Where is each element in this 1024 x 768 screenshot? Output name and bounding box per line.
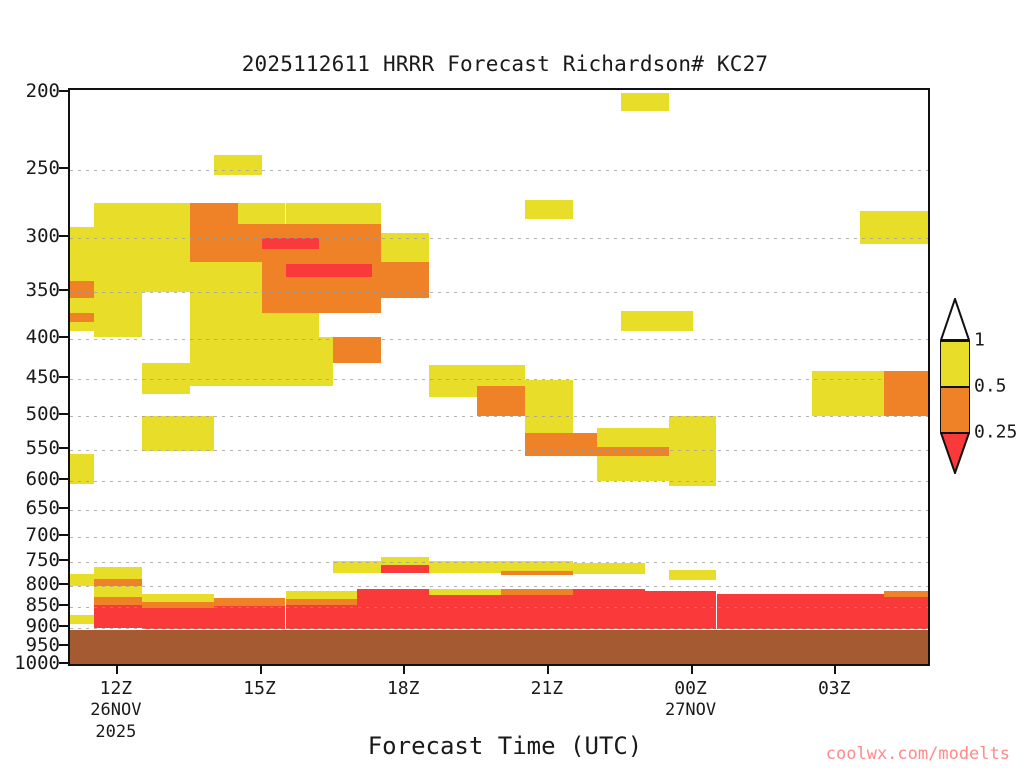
heatmap-cell <box>597 428 669 446</box>
colorbar-bottom-arrow <box>940 432 970 474</box>
heatmap-cell <box>94 597 142 605</box>
heatmap-cell <box>860 211 930 245</box>
heatmap-cell <box>525 380 573 416</box>
heatmap-cells <box>70 90 928 664</box>
heatmap-cell <box>621 311 693 332</box>
x-tick-mark <box>834 666 836 674</box>
heatmap-cell <box>286 264 372 277</box>
y-tick-mark <box>59 289 68 291</box>
y-tick-label: 500 <box>26 403 60 425</box>
heatmap-cell <box>142 594 214 602</box>
heatmap-cell <box>573 563 645 574</box>
y-tick-mark <box>59 413 68 415</box>
colorbar-separator <box>940 340 970 342</box>
chart-title: 2025112611 HRRR Forecast Richardson# KC2… <box>0 52 1010 76</box>
x-tick-mark <box>691 666 693 674</box>
y-tick-mark <box>59 644 68 646</box>
y-tick-label: 250 <box>26 157 60 179</box>
y-tick-mark <box>59 534 68 536</box>
x-tick-mark <box>116 666 118 674</box>
heatmap-cell <box>573 589 645 629</box>
heatmap-cell <box>70 322 94 331</box>
x-tick-label: 15Z <box>243 678 276 699</box>
heatmap-cell <box>70 298 94 313</box>
heatmap-cell <box>262 337 334 363</box>
heatmap-cell <box>669 570 717 581</box>
heatmap-cell <box>501 589 573 596</box>
x-tick-label: 21Z <box>531 678 564 699</box>
heatmap-cell <box>669 416 717 456</box>
heatmap-cell <box>286 203 334 225</box>
heatmap-cell <box>429 561 501 573</box>
heatmap-cell <box>214 606 286 629</box>
heatmap-cell <box>669 456 717 485</box>
heatmap-cell <box>501 561 573 571</box>
x-tick-mark <box>403 666 405 674</box>
heatmap-cell <box>381 233 429 262</box>
heatmap-cell <box>884 591 930 597</box>
heatmap-cell <box>621 93 669 111</box>
heatmap-cell <box>94 292 142 337</box>
heatmap-cell <box>262 238 319 249</box>
heatmap-cell <box>429 595 501 629</box>
heatmap-cell <box>142 363 190 394</box>
heatmap-cell <box>262 313 319 337</box>
y-tick-label: 1000 <box>14 652 60 674</box>
heatmap-cell <box>94 579 142 586</box>
colorbar-top-arrow <box>940 298 970 340</box>
y-tick-mark <box>59 478 68 480</box>
y-tick-mark <box>59 447 68 449</box>
colorbar-band-orange <box>940 386 970 432</box>
gridline <box>70 665 928 666</box>
y-tick-label: 850 <box>26 594 60 616</box>
heatmap-cell <box>190 337 262 386</box>
y-tick-mark <box>59 376 68 378</box>
y-tick-label: 300 <box>26 225 60 247</box>
heatmap-cell <box>142 608 214 629</box>
heatmap-cell <box>214 155 262 176</box>
heatmap-cell <box>381 262 429 298</box>
heatmap-cell <box>333 203 381 225</box>
y-tick-label: 550 <box>26 437 60 459</box>
heatmap-cell <box>597 447 669 457</box>
terrain-fill <box>70 630 928 666</box>
heatmap-cell <box>94 567 142 579</box>
colorbar-separator <box>940 432 970 434</box>
heatmap-cell <box>477 386 525 416</box>
heatmap-cell <box>286 605 358 629</box>
y-tick-mark <box>59 167 68 169</box>
heatmap-cell <box>94 605 142 628</box>
y-tick-label: 400 <box>26 326 60 348</box>
colorbar-tick-label: 0.25 <box>974 422 1017 443</box>
y-tick-mark <box>59 583 68 585</box>
heatmap-cell <box>645 591 717 629</box>
y-tick-mark <box>59 235 68 237</box>
y-tick-mark <box>59 625 68 627</box>
heatmap-cell <box>94 262 190 292</box>
heatmap-cell <box>812 371 884 416</box>
heatmap-cell <box>214 598 286 606</box>
watermark: coolwx.com/modelts <box>826 744 1010 764</box>
y-tick-label: 450 <box>26 366 60 388</box>
heatmap-cell <box>333 561 381 573</box>
heatmap-cell <box>70 313 94 322</box>
y-tick-label: 350 <box>26 279 60 301</box>
heatmap-cell <box>357 589 429 628</box>
heatmap-cell <box>190 313 262 337</box>
colorbar-tick-label: 0.5 <box>974 376 1007 397</box>
x-tick-mark <box>260 666 262 674</box>
heatmap-cell <box>381 557 429 565</box>
heatmap-cell <box>525 416 573 433</box>
y-tick-label: 600 <box>26 468 60 490</box>
heatmap-cell <box>333 337 381 363</box>
heatmap-cell <box>70 454 94 485</box>
y-tick-mark <box>59 507 68 509</box>
x-tick-sublabel: 26NOV <box>90 700 141 720</box>
heatmap-cell <box>70 227 94 253</box>
heatmap-cell <box>381 565 429 573</box>
heatmap-cell <box>525 200 573 219</box>
heatmap-cell <box>501 595 573 629</box>
heatmap-cell <box>286 591 358 599</box>
heatmap-cell <box>262 363 334 386</box>
heatmap-cell <box>238 203 286 225</box>
y-tick-label: 750 <box>26 549 60 571</box>
x-tick-label: 03Z <box>818 678 851 699</box>
heatmap-cell <box>94 586 142 597</box>
heatmap-cell <box>262 281 382 312</box>
heatmap-cell <box>501 571 573 576</box>
heatmap-cell <box>477 365 525 387</box>
heatmap-cell <box>717 594 931 629</box>
x-tick-label: 12Z <box>100 678 133 699</box>
colorbar-separator <box>940 386 970 388</box>
heatmap-cell <box>94 227 190 262</box>
heatmap-cell <box>94 203 142 227</box>
heatmap-cell <box>70 615 94 623</box>
heatmap-cell <box>884 371 930 416</box>
y-tick-mark <box>59 90 68 92</box>
heatmap-cell <box>70 281 94 297</box>
x-tick-mark <box>547 666 549 674</box>
y-tick-mark <box>59 662 68 664</box>
heatmap-cell <box>142 416 214 451</box>
heatmap-cell <box>70 574 94 586</box>
y-tick-mark <box>59 336 68 338</box>
y-tick-mark <box>59 559 68 561</box>
y-tick-label: 650 <box>26 497 60 519</box>
heatmap-cell <box>190 292 262 313</box>
heatmap-cell <box>142 203 190 227</box>
chart-page: 2025112611 HRRR Forecast Richardson# KC2… <box>0 0 1024 768</box>
colorbar-tick-label: 1 <box>974 330 985 351</box>
heatmap-cell <box>525 433 597 456</box>
heatmap-cell <box>429 365 477 397</box>
y-tick-label: 200 <box>26 80 60 102</box>
heatmap-cell <box>70 253 94 281</box>
x-tick-label: 00Z <box>674 678 707 699</box>
y-tick-mark <box>59 604 68 606</box>
x-tick-sublabel: 27NOV <box>665 700 716 720</box>
colorbar-band-yellow <box>940 340 970 386</box>
heatmap-cell <box>190 262 262 292</box>
y-tick-label: 800 <box>26 573 60 595</box>
x-tick-label: 18Z <box>387 678 420 699</box>
y-tick-label: 700 <box>26 524 60 546</box>
plot-area <box>68 88 930 666</box>
colorbar-legend: 10.50.25 <box>940 298 970 480</box>
